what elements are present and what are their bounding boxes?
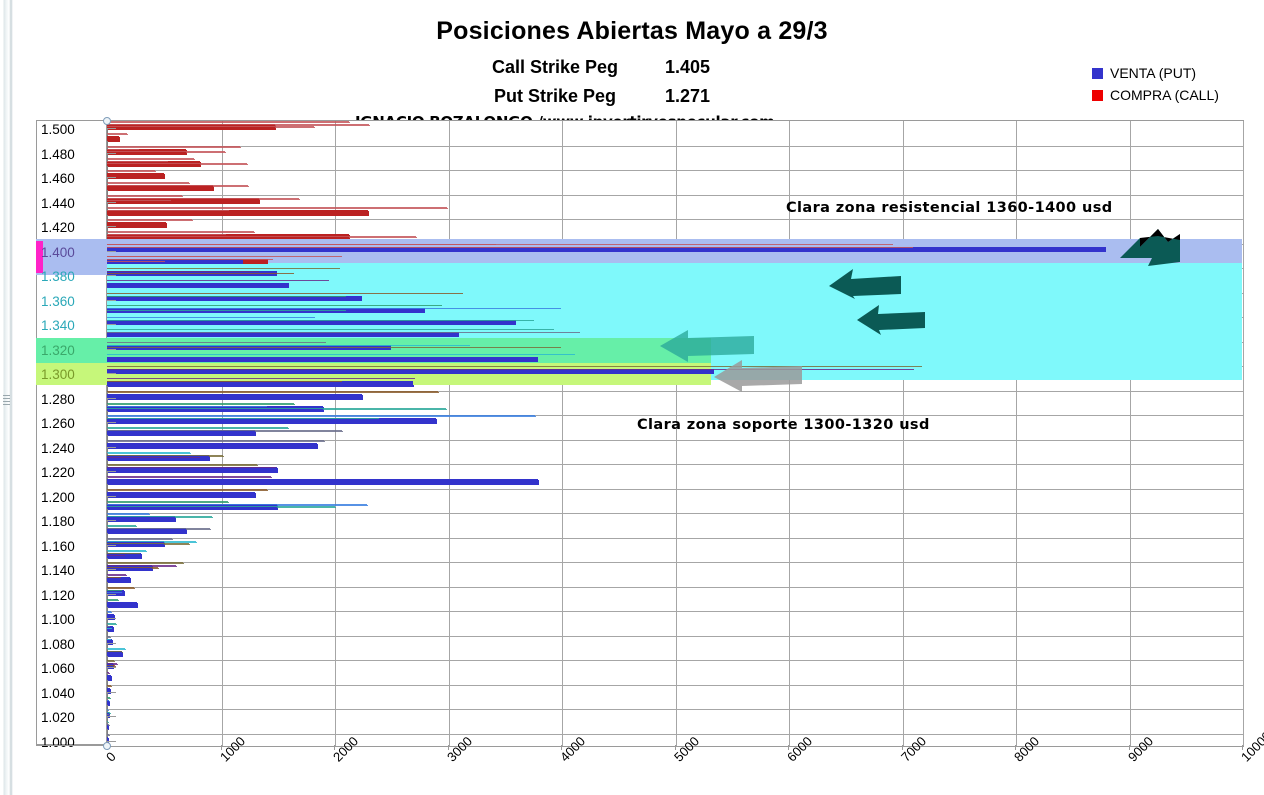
highlight-band-support-lower xyxy=(36,363,711,385)
bar-thin xyxy=(108,649,126,650)
bar-thin xyxy=(108,232,255,233)
chart-selection-handle-tl[interactable] xyxy=(103,117,111,125)
arrow-resistance-right xyxy=(1118,228,1182,270)
y-axis-label: 1.100 xyxy=(36,613,107,627)
bar-thin xyxy=(108,735,110,736)
bar-thin xyxy=(108,152,226,153)
bar-thin xyxy=(108,211,230,212)
bar xyxy=(108,603,138,608)
bar-thin xyxy=(108,150,140,151)
vertical-gridline xyxy=(562,121,563,746)
horizontal-gridline xyxy=(108,587,1243,588)
horizontal-gridline xyxy=(108,464,1243,465)
legend-item-venta-put[interactable]: VENTA (PUT) xyxy=(1092,62,1219,84)
bar-thin xyxy=(108,698,111,699)
x-axis-tick xyxy=(448,745,449,750)
y-axis-tick xyxy=(107,545,116,546)
bar-thin xyxy=(108,162,169,163)
bar-thin xyxy=(108,468,277,469)
horizontal-gridline xyxy=(108,219,1243,220)
arrow-resistance-lower xyxy=(855,303,927,337)
bar-thin xyxy=(108,502,229,503)
y-axis-tick xyxy=(107,373,116,374)
call-strike-peg-value: 1.405 xyxy=(665,57,710,78)
y-axis-label: 1.180 xyxy=(36,515,107,529)
horizontal-gridline xyxy=(108,709,1243,710)
bar-thin xyxy=(108,637,111,638)
y-axis-label: 1.360 xyxy=(36,295,107,309)
annotation-resistance: Clara zona resistencial 1360-1400 usd xyxy=(786,200,1113,216)
y-axis-label: 1.080 xyxy=(36,638,107,652)
y-axis-tick xyxy=(107,447,116,448)
bar xyxy=(108,395,363,400)
bar-thin xyxy=(108,392,439,393)
bar-thin xyxy=(108,220,193,221)
legend-swatch-venta-put xyxy=(1092,68,1103,79)
horizontal-gridline xyxy=(108,636,1243,637)
y-axis-label: 1.220 xyxy=(36,466,107,480)
bar-thin xyxy=(108,407,268,408)
y-axis-tick xyxy=(107,594,116,595)
y-axis-tick xyxy=(107,177,116,178)
x-axis-label: 0 xyxy=(103,749,119,765)
bar-thin xyxy=(108,458,201,459)
bar-thin xyxy=(108,404,295,405)
y-axis-tick xyxy=(107,471,116,472)
bar-thin xyxy=(108,428,289,429)
y-axis-tick xyxy=(107,128,116,129)
y-axis-tick xyxy=(107,202,116,203)
bar-thin xyxy=(108,235,227,236)
bar-thin xyxy=(108,505,368,506)
y-axis-label: 1.060 xyxy=(36,662,107,676)
legend-swatch-compra-call xyxy=(1092,90,1103,101)
bar xyxy=(108,137,120,142)
y-axis-tick xyxy=(107,422,116,423)
put-strike-peg-value: 1.271 xyxy=(665,86,710,107)
bar-thin xyxy=(108,624,117,625)
bar-thin xyxy=(108,208,448,209)
bar-thin xyxy=(108,640,112,641)
y-axis-label: 1.040 xyxy=(36,687,107,701)
y-axis-tick xyxy=(107,349,116,350)
arrow-resistance-upper xyxy=(827,266,903,300)
x-axis-tick xyxy=(675,745,676,750)
bar-thin xyxy=(108,183,190,184)
horizontal-gridline xyxy=(108,146,1243,147)
y-axis-label: 1.480 xyxy=(36,148,107,162)
bar-thin xyxy=(108,542,197,543)
bar-thin xyxy=(108,201,172,202)
horizontal-gridline xyxy=(108,513,1243,514)
bar-thin xyxy=(108,441,325,442)
put-strike-peg-label: Put Strike Peg xyxy=(494,86,616,107)
bar-thin xyxy=(108,627,111,628)
x-axis-stub-line xyxy=(36,745,107,746)
y-axis-tick xyxy=(107,643,116,644)
bar-thin xyxy=(108,526,137,527)
y-axis-tick xyxy=(107,251,116,252)
x-axis-tick xyxy=(561,745,562,750)
y-axis-label: 1.440 xyxy=(36,197,107,211)
chart-legend: VENTA (PUT) COMPRA (CALL) xyxy=(1092,62,1219,106)
bar xyxy=(108,174,165,179)
y-axis-tick xyxy=(107,716,116,717)
bar xyxy=(108,223,167,228)
bar-thin xyxy=(108,661,115,662)
bar-thin xyxy=(108,507,336,508)
bar-thin xyxy=(108,431,343,432)
bar-thin xyxy=(108,416,536,417)
y-axis-label: 1.120 xyxy=(36,589,107,603)
x-axis-tick xyxy=(1242,745,1243,750)
y-axis-tick xyxy=(107,520,116,521)
bar xyxy=(108,480,539,485)
bar-thin xyxy=(108,196,183,197)
y-axis-tick xyxy=(107,324,116,325)
bar-thin xyxy=(108,710,109,711)
bar-thin xyxy=(108,419,380,420)
bar-thin xyxy=(108,600,119,601)
y-axis-label: 1.320 xyxy=(36,344,107,358)
bar-thin xyxy=(108,125,370,126)
page-title: Posiciones Abiertas Mayo a 29/3 xyxy=(0,17,1264,46)
y-axis-label: 1.380 xyxy=(36,270,107,284)
horizontal-gridline xyxy=(108,660,1243,661)
horizontal-gridline xyxy=(108,195,1243,196)
bar-thin xyxy=(108,664,118,665)
bar-thin xyxy=(108,713,111,714)
chart-selection-handle-bl[interactable] xyxy=(103,742,111,750)
y-axis-tick xyxy=(107,496,116,497)
y-axis-tick xyxy=(107,692,116,693)
bar-thin xyxy=(108,612,112,613)
bar-thin xyxy=(108,578,122,579)
bar-thin xyxy=(108,591,123,592)
y-axis-label: 1.000 xyxy=(36,736,107,750)
y-axis-label: 1.020 xyxy=(36,711,107,725)
bar-thin xyxy=(108,563,184,564)
y-axis-label: 1.280 xyxy=(36,393,107,407)
bar-thin xyxy=(108,127,315,128)
y-axis-label: 1.160 xyxy=(36,540,107,554)
horizontal-gridline xyxy=(108,611,1243,612)
bar-thin xyxy=(108,566,177,567)
bar-thin xyxy=(108,556,126,557)
bar-thin xyxy=(108,237,417,238)
legend-label-venta-put: VENTA (PUT) xyxy=(1110,65,1196,81)
horizontal-gridline xyxy=(108,489,1243,490)
bar-thin xyxy=(108,456,224,457)
y-axis-tick xyxy=(107,300,116,301)
y-axis-tick xyxy=(107,667,116,668)
bar-thin xyxy=(108,529,211,530)
arrow-support-lower xyxy=(712,357,804,393)
bar-thin xyxy=(108,588,135,589)
bar-thin xyxy=(108,652,123,653)
bar-thin xyxy=(108,539,173,540)
y-axis-tick xyxy=(107,398,116,399)
y-axis-tick xyxy=(107,569,116,570)
bar-thin xyxy=(108,171,156,172)
bar-thin xyxy=(108,722,109,723)
bar-thin xyxy=(108,544,190,545)
vertical-gridline xyxy=(449,121,450,746)
y-axis-tick xyxy=(107,275,116,276)
bar-thin xyxy=(108,199,300,200)
y-axis-label: 1.340 xyxy=(36,319,107,333)
bar-thin xyxy=(108,409,447,410)
y-axis-label: 1.400 xyxy=(36,246,107,260)
x-axis-tick xyxy=(1015,745,1016,750)
bar-thin xyxy=(108,134,128,135)
x-axis-tick xyxy=(902,745,903,750)
bar xyxy=(108,676,112,681)
bar-thin xyxy=(108,551,147,552)
bar-thin xyxy=(108,477,272,478)
bar-thin xyxy=(108,514,150,515)
bar-thin xyxy=(108,453,191,454)
legend-label-compra-call: COMPRA (CALL) xyxy=(1110,87,1219,103)
y-axis-tick xyxy=(107,153,116,154)
horizontal-gridline xyxy=(108,538,1243,539)
bar-thin xyxy=(108,673,110,674)
horizontal-gridline xyxy=(108,685,1243,686)
bar-thin xyxy=(108,186,249,187)
horizontal-gridline xyxy=(108,562,1243,563)
legend-item-compra-call[interactable]: COMPRA (CALL) xyxy=(1092,84,1219,106)
bar xyxy=(108,493,256,498)
y-axis-tick xyxy=(107,226,116,227)
x-axis-tick xyxy=(788,745,789,750)
row-resize-handle[interactable] xyxy=(3,395,10,407)
bar-thin xyxy=(108,122,350,123)
bar-thin xyxy=(108,725,110,726)
bar-thin xyxy=(108,575,127,576)
y-axis-label: 1.240 xyxy=(36,442,107,456)
x-axis-tick xyxy=(334,745,335,750)
horizontal-gridline xyxy=(108,734,1243,735)
vertical-gridline xyxy=(1130,121,1131,746)
y-axis-label: 1.260 xyxy=(36,417,107,431)
annotation-support: Clara zona soporte 1300-1320 usd xyxy=(637,417,930,433)
bar-thin xyxy=(108,465,258,466)
bar-thin xyxy=(108,701,110,702)
vertical-gridline xyxy=(1243,121,1244,746)
x-axis-tick xyxy=(1129,745,1130,750)
y-axis-label: 1.460 xyxy=(36,172,107,186)
y-axis-tick xyxy=(107,618,116,619)
vertical-gridline xyxy=(676,121,677,746)
bar-thin xyxy=(108,554,141,555)
x-axis-tick xyxy=(221,745,222,750)
y-axis-label: 1.300 xyxy=(36,368,107,382)
bar-thin xyxy=(108,686,112,687)
bar-thin xyxy=(108,147,241,148)
bar xyxy=(108,444,318,449)
call-strike-peg-label: Call Strike Peg xyxy=(492,57,618,78)
bar-thin xyxy=(108,490,268,491)
y-axis-label: 1.200 xyxy=(36,491,107,505)
bar-thin xyxy=(108,517,213,518)
horizontal-gridline xyxy=(108,170,1243,171)
bar-thin xyxy=(108,159,195,160)
bar-thin xyxy=(108,164,248,165)
y-axis-label: 1.500 xyxy=(36,123,107,137)
y-axis-label: 1.140 xyxy=(36,564,107,578)
bar-thin xyxy=(108,629,113,630)
y-axis-label: 1.420 xyxy=(36,221,107,235)
